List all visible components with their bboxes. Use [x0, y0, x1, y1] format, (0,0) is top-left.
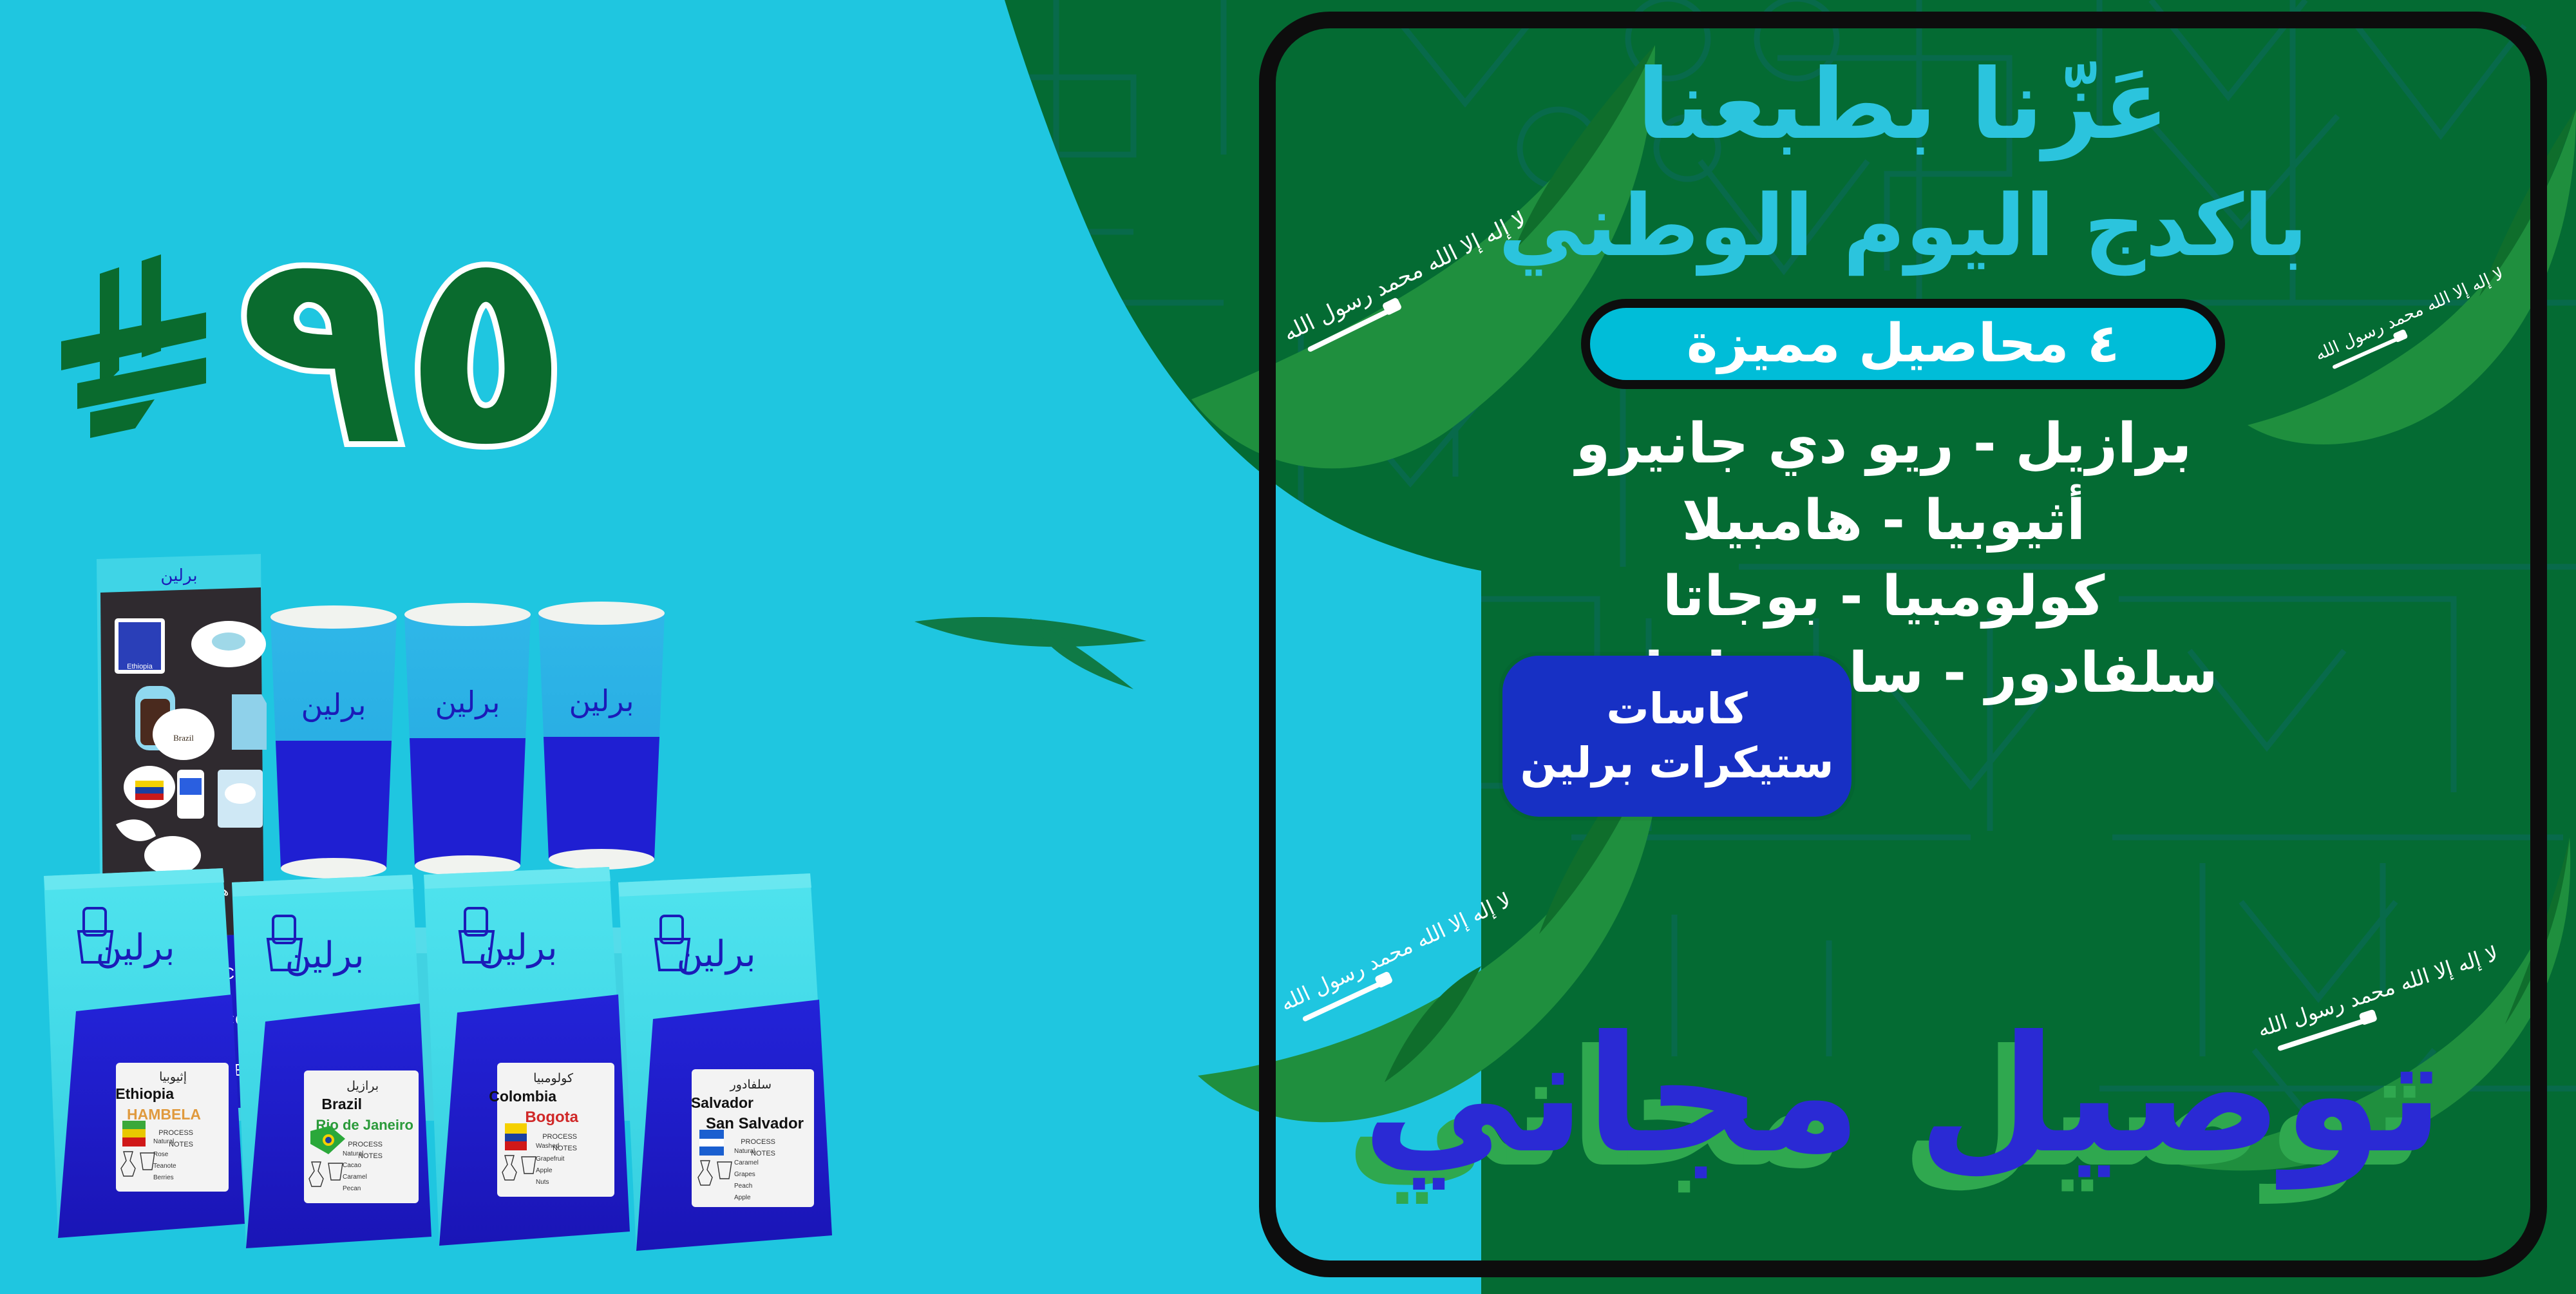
svg-text:Natural: Natural	[343, 1150, 363, 1157]
svg-text:سلفادور: سلفادور	[730, 1078, 772, 1092]
coffee-bag-salvador: برلين سلفادور Salvador San Salvador PROC…	[618, 873, 832, 1251]
svg-text:Washed: Washed	[536, 1143, 559, 1150]
cup: برلين	[270, 605, 397, 879]
svg-text:برلين: برلين	[569, 683, 634, 719]
origin-item: أثيوبيا - هامبيلا	[1282, 482, 2486, 559]
product-photo: BRLEENCOFFEE BRLEENCOFFEE WWW.BRLEEN.COM…	[39, 547, 966, 1275]
svg-text:Brazil: Brazil	[173, 733, 194, 743]
headline-primary: عَزّنا بطبعنا	[1282, 45, 2524, 166]
extras-badge-line-1: كاسات	[1606, 682, 1747, 736]
svg-text:PROCESS: PROCESS	[158, 1129, 193, 1137]
extras-badge-line-2: ستيكرات برلين	[1520, 736, 1833, 790]
svg-text:PROCESS: PROCESS	[542, 1133, 577, 1141]
origin-item: برازيل - ريو دي جانيرو	[1282, 406, 2486, 482]
svg-text:Brazil: Brazil	[321, 1096, 362, 1112]
svg-text:Teanote: Teanote	[153, 1163, 176, 1170]
svg-text:Nuts: Nuts	[536, 1179, 549, 1186]
svg-text:Cacao: Cacao	[343, 1162, 361, 1169]
svg-text:برازيل: برازيل	[346, 1079, 379, 1093]
crops-count-label: ٤ محاصيل مميزة	[1687, 313, 2119, 374]
svg-text:San Salvador: San Salvador	[706, 1115, 804, 1132]
coffee-bag-brazil: برلين برازيل Brazil Rio de Janeiro PROCE…	[232, 875, 431, 1248]
free-delivery-front: توصيل مجاني	[1282, 973, 2524, 1217]
svg-text:Apple: Apple	[536, 1167, 553, 1174]
origins-list: برازيل - ريو دي جانيرو أثيوبيا - هامبيلا…	[1282, 406, 2524, 712]
svg-text:Caramel: Caramel	[734, 1159, 759, 1166]
saudi-riyal-symbol-icon	[58, 251, 219, 444]
svg-text:PROCESS: PROCESS	[348, 1141, 383, 1148]
cup-group: برلين برلين برلين	[270, 602, 665, 879]
svg-text:Colombia: Colombia	[489, 1088, 556, 1105]
crops-count-pill: ٤ محاصيل مميزة	[1581, 299, 2225, 389]
svg-text:Apple: Apple	[734, 1194, 751, 1201]
svg-text:Peach: Peach	[734, 1183, 752, 1190]
svg-text:PROCESS: PROCESS	[741, 1138, 775, 1146]
svg-text:Rose: Rose	[153, 1151, 169, 1158]
svg-text:Grapefruit: Grapefruit	[536, 1156, 565, 1163]
svg-text:كولومبيا: كولومبيا	[533, 1071, 574, 1085]
price-block: ٩٥	[58, 193, 734, 502]
extras-badge: كاسات ستيكرات برلين	[1502, 656, 1851, 817]
cup: برلين	[538, 602, 665, 870]
coffee-bag-colombia: برلين كولومبيا Colombia Bogota PROCESS N…	[424, 867, 630, 1246]
svg-text:Ethiopia: Ethiopia	[127, 663, 153, 671]
svg-text:Ethiopia: Ethiopia	[115, 1085, 174, 1102]
svg-text:Grapes: Grapes	[734, 1171, 755, 1178]
origin-item: سلفادور - سان سلفادور	[1282, 635, 2486, 712]
svg-text:Bogota: Bogota	[525, 1108, 578, 1126]
svg-text:Berries: Berries	[153, 1174, 174, 1181]
svg-text:Natural: Natural	[153, 1138, 174, 1145]
svg-text:Natural: Natural	[734, 1148, 755, 1155]
poster-root: ٩٥	[0, 0, 2576, 1294]
svg-text:Pecan: Pecan	[343, 1185, 361, 1192]
headline-secondary: باكدج اليوم الوطني	[1282, 175, 2524, 277]
coffee-bag-ethiopia: برلين إثيوبيا Ethiopia HAMBELA PROCESS N…	[44, 868, 245, 1238]
origin-item: كولومبيا - بوجاتا	[1282, 558, 2486, 635]
svg-text:Caramel: Caramel	[343, 1174, 367, 1181]
svg-text:برلين: برلين	[160, 566, 197, 585]
svg-text:Salvador: Salvador	[691, 1094, 753, 1111]
svg-text:إثيوبيا: إثيوبيا	[159, 1070, 187, 1085]
svg-text:برلين: برلين	[301, 687, 366, 723]
price-value: ٩٥	[238, 233, 569, 463]
free-delivery-text: توصيل مجاني توصيل مجاني	[1282, 973, 2524, 1217]
svg-text:HAMBELA: HAMBELA	[127, 1106, 201, 1123]
svg-text:برلين: برلين	[435, 685, 500, 720]
cup: برلين	[404, 603, 531, 876]
